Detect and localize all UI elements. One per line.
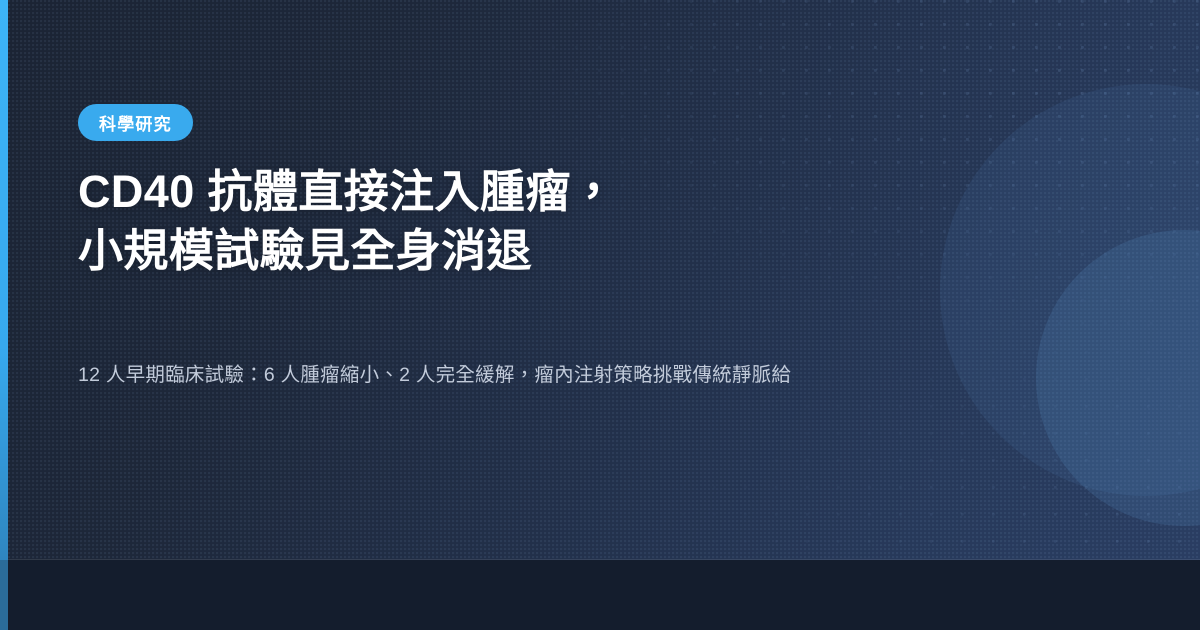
category-badge: 科學研究 — [78, 104, 193, 141]
page-title-line-1: CD40 抗體直接注入腫瘤， — [78, 163, 898, 222]
page-title: CD40 抗體直接注入腫瘤， 小規模試驗見全身消退 — [78, 163, 898, 281]
page-title-line-2: 小規模試驗見全身消退 — [78, 222, 898, 281]
footer-content: 明日健康 nextday-health.com — [0, 560, 1200, 630]
page-subtitle: 12 人早期臨床試驗：6 人腫瘤縮小、2 人完全緩解，瘤內注射策略挑戰傳統靜脈給 — [78, 360, 1078, 390]
left-accent-bar — [0, 0, 8, 560]
social-share-card: 科學研究 CD40 抗體直接注入腫瘤， 小規模試驗見全身消退 12 人早期臨床試… — [0, 0, 1200, 630]
